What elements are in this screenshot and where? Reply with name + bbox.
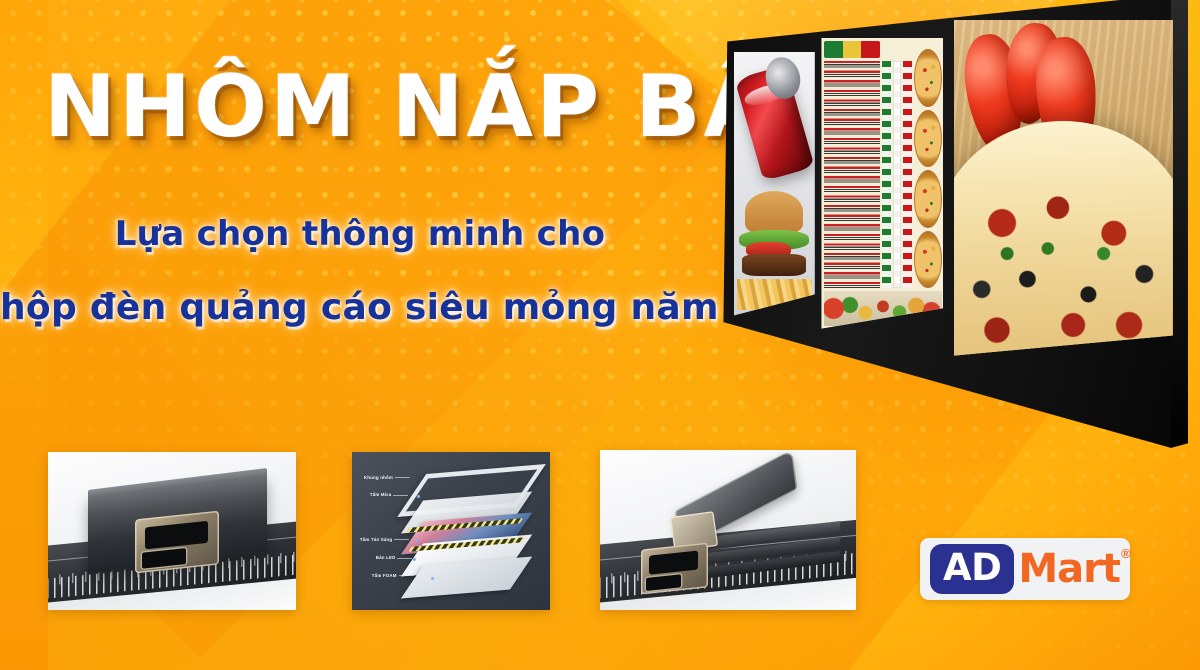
hero-lightbox-image [712, 0, 1188, 460]
banner-canvas: NHÔM NẮP BẬT Lựa chọn thông minh cho hộp… [0, 0, 1200, 670]
pizza-closeup [954, 121, 1173, 356]
subtitle-line-1: Lựa chọn thông minh cho [0, 214, 720, 254]
thumbnail-lightbox-exploded-diagram[interactable]: Khung nhôm Tấm Mica Tấm Tán Sáng Bản LED… [352, 452, 550, 610]
registered-trademark-icon: ® [1121, 546, 1131, 561]
pizza-photo [914, 49, 942, 106]
price-column-small [882, 61, 891, 288]
diagram-label-tam-tan-sang: Tấm Tán Sáng [360, 537, 392, 542]
burger-bun [745, 191, 803, 232]
logo-mart-word: Mart [1018, 549, 1120, 589]
pizza-photo [914, 170, 942, 227]
price-column-large [903, 61, 912, 288]
diagram-label-khung-nhom: Khung nhôm [364, 475, 393, 480]
page-title: NHÔM NẮP BẬT [44, 64, 724, 150]
diagram-label-tam-mica: Tấm Mica [370, 492, 392, 497]
subtitle-line-2: hộp đèn quảng cáo siêu mỏng năm 2023 [0, 287, 720, 328]
beef-patty [742, 254, 806, 276]
diagram-label-tam-foam: Tấm FOAM [372, 573, 397, 578]
menu-item-text-column [824, 61, 880, 288]
profile-cross-section [135, 511, 219, 574]
thumbnail-aluminium-profile-closed[interactable] [48, 452, 296, 610]
menu-photo-strip [914, 49, 942, 287]
lightbox-panel-menu-list [821, 38, 943, 329]
pizza-photo [914, 110, 942, 167]
thumbnail-aluminium-profile-open[interactable] [600, 450, 856, 610]
background-left-band [0, 0, 48, 670]
logo-ad-badge: AD [930, 544, 1014, 594]
cheeseburger [737, 189, 811, 310]
lightbox-panel-pizza-closeup [954, 20, 1173, 356]
admart-logo[interactable]: AD Mart ® [920, 538, 1130, 600]
profile-cross-section [641, 543, 708, 595]
lightbox-panel-drink-burger [734, 52, 815, 316]
diagram-label-ban-led: Bản LED [376, 555, 396, 560]
pizza-photo [914, 231, 942, 288]
price-column-medium [893, 61, 902, 288]
menu-header-bar [824, 41, 880, 58]
